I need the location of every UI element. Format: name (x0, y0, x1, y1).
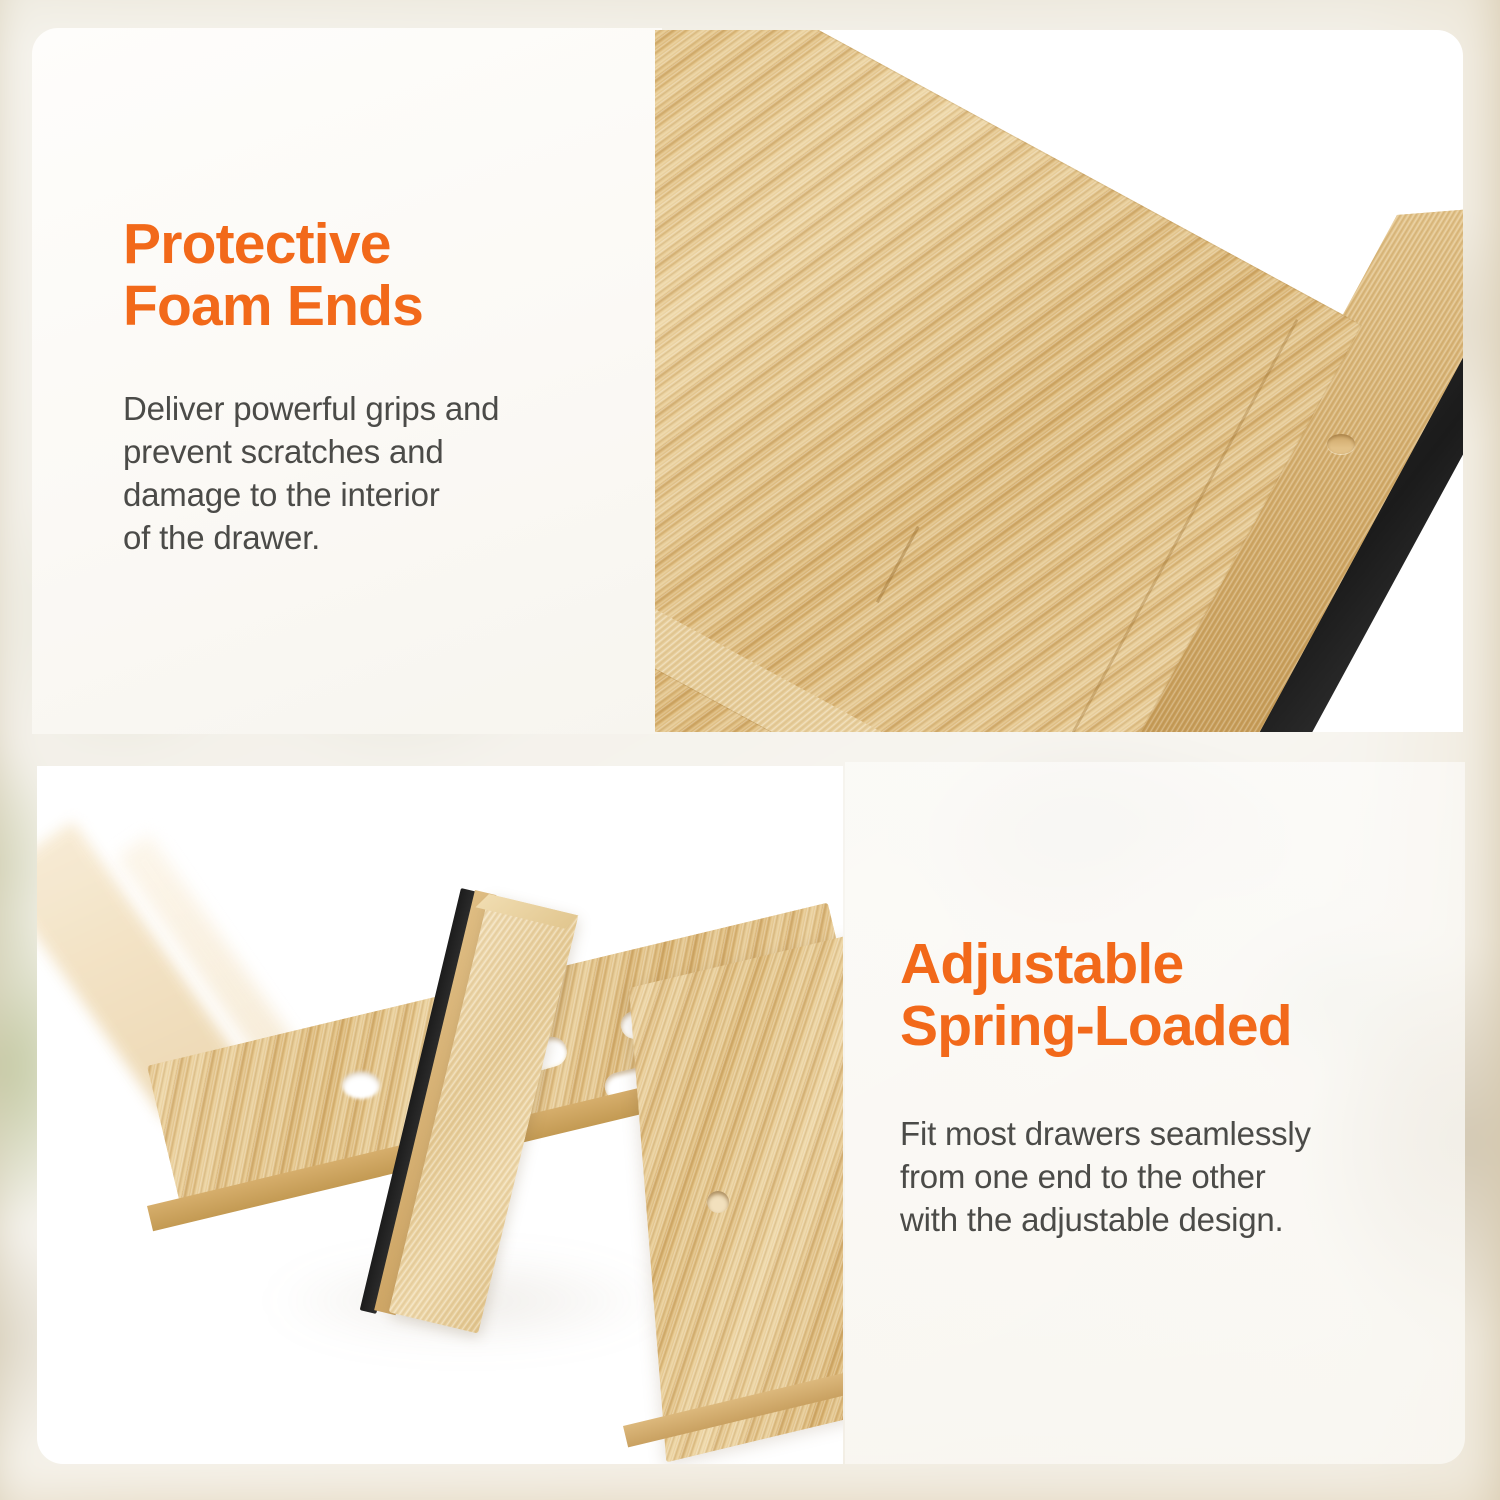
feature-headline-adjustable-spring-loaded: Adjustable Spring-Loaded (900, 934, 1460, 1057)
board-pin-hole (1327, 434, 1355, 454)
feature-panel-adjustable-spring-loaded: Adjustable Spring-Loaded Fit most drawer… (845, 762, 1465, 1464)
feature-text-block-top-left: Protective Foam Ends Deliver powerful gr… (123, 214, 643, 560)
end-plate-pin-hole (707, 1191, 729, 1213)
infographic-canvas: Protective Foam Ends Deliver powerful gr… (0, 0, 1500, 1500)
feature-headline-protective-foam-ends: Protective Foam Ends (123, 214, 643, 337)
feature-text-block-bottom-right: Adjustable Spring-Loaded Fit most drawer… (900, 934, 1460, 1242)
foam-end-closeup-scene (655, 30, 1463, 732)
blurred-bar-hole (342, 1071, 380, 1099)
product-photo-spring-mechanism (37, 766, 843, 1464)
feature-panel-protective-foam-ends: Protective Foam Ends Deliver powerful gr… (32, 28, 662, 734)
product-photo-foam-end-closeup (655, 30, 1463, 732)
spring-mechanism-scene (37, 766, 843, 1464)
feature-body-protective-foam-ends: Deliver powerful grips and prevent scrat… (123, 388, 643, 560)
feature-body-adjustable-spring-loaded: Fit most drawers seamlessly from one end… (900, 1113, 1460, 1242)
